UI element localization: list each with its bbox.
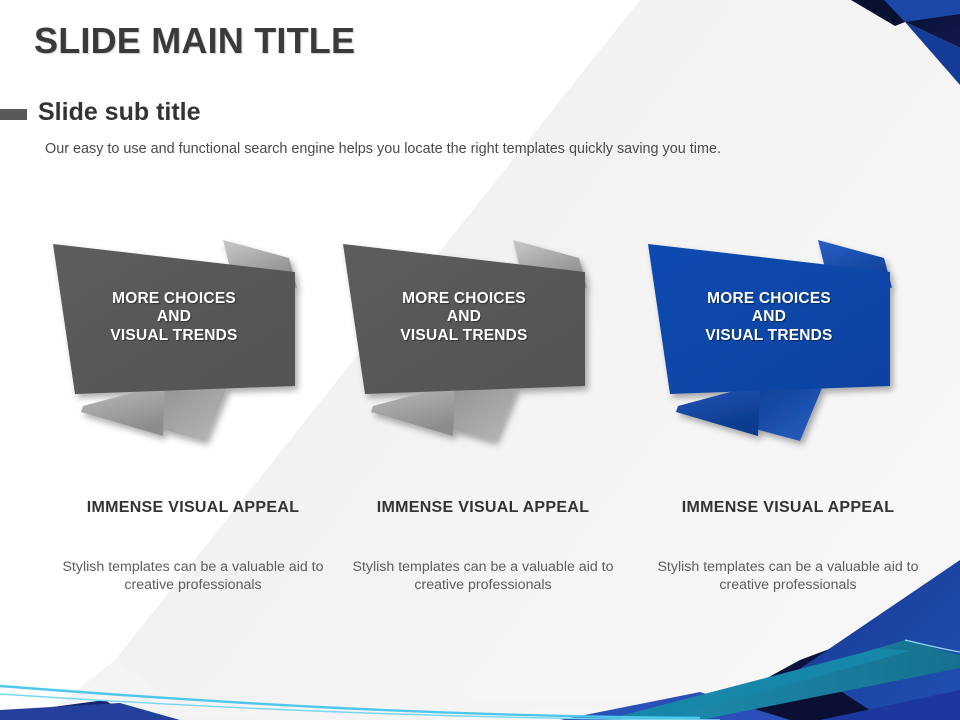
ribbon-banner-1[interactable]: MORE CHOICES AND VISUAL TRENDS <box>45 236 313 458</box>
ribbon-banner-2-graphic <box>335 236 603 458</box>
caption-body-3: Stylish templates can be a valuable aid … <box>650 558 926 594</box>
caption-heading-2: IMMENSE VISUAL APPEAL <box>335 498 631 518</box>
column-3: MORE CHOICES AND VISUAL TRENDS IMMENSE V… <box>640 236 936 636</box>
caption-heading-1: IMMENSE VISUAL APPEAL <box>45 498 341 518</box>
column-2: MORE CHOICES AND VISUAL TRENDS IMMENSE V… <box>335 236 631 636</box>
ribbon-banner-2[interactable]: MORE CHOICES AND VISUAL TRENDS <box>335 236 603 458</box>
ribbon-banner-3[interactable]: MORE CHOICES AND VISUAL TRENDS <box>640 236 908 458</box>
ribbon-banner-3-graphic <box>640 236 908 458</box>
caption-body-2: Stylish templates can be a valuable aid … <box>345 558 621 594</box>
column-1: MORE CHOICES AND VISUAL TRENDS IMMENSE V… <box>45 236 341 636</box>
content-columns: MORE CHOICES AND VISUAL TRENDS IMMENSE V… <box>0 0 960 720</box>
caption-body-1: Stylish templates can be a valuable aid … <box>55 558 331 594</box>
caption-heading-3: IMMENSE VISUAL APPEAL <box>640 498 936 518</box>
slide-canvas: SLIDE MAIN TITLE Slide sub title Our eas… <box>0 0 960 720</box>
ribbon-banner-1-graphic <box>45 236 313 458</box>
